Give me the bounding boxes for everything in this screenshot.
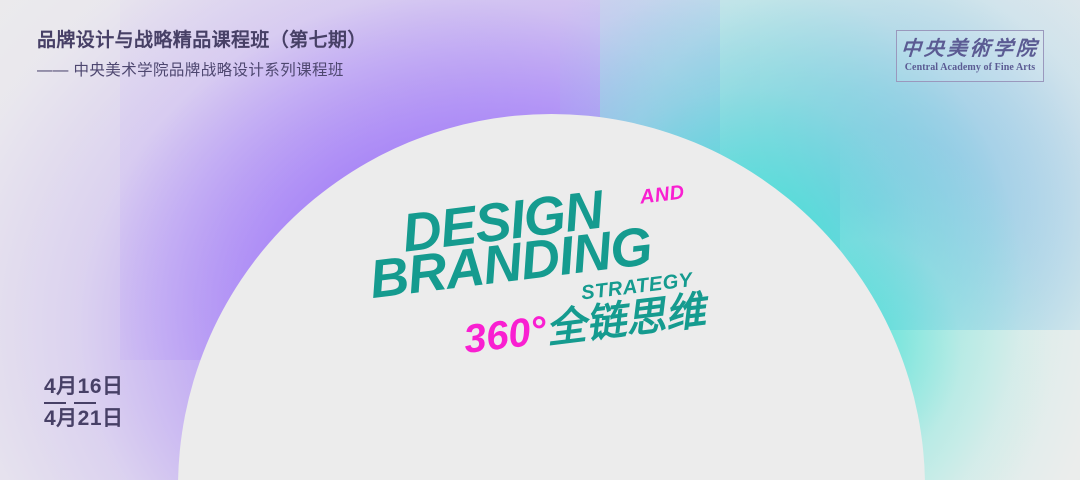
academy-logo: 中央美術学院 Central Academy of Fine Arts xyxy=(896,30,1044,82)
headline-chinese-text: 全链思维 xyxy=(544,289,708,352)
academy-logo-chinese-text: 中央美術学院 xyxy=(900,39,1039,59)
headline-and: AND xyxy=(639,182,686,207)
page-subtitle: —— 中央美术学院品牌战略设计系列课程班 xyxy=(37,61,367,80)
academy-logo-english-text: Central Academy of Fine Arts xyxy=(905,63,1036,73)
header: 品牌设计与战略精品课程班（第七期） —— 中央美术学院品牌战略设计系列课程班 xyxy=(37,29,367,80)
course-start-date: 4月16日 xyxy=(44,375,124,399)
course-promo-banner: 品牌设计与战略精品课程班（第七期） —— 中央美术学院品牌战略设计系列课程班 中… xyxy=(0,0,1080,480)
headline-360-degrees: 360° xyxy=(461,308,548,362)
page-title: 品牌设计与战略精品课程班（第七期） xyxy=(37,29,367,53)
date-separator-icon xyxy=(44,402,102,404)
course-end-date: 4月21日 xyxy=(44,407,124,431)
course-dates: 4月16日 4月21日 xyxy=(44,375,124,431)
